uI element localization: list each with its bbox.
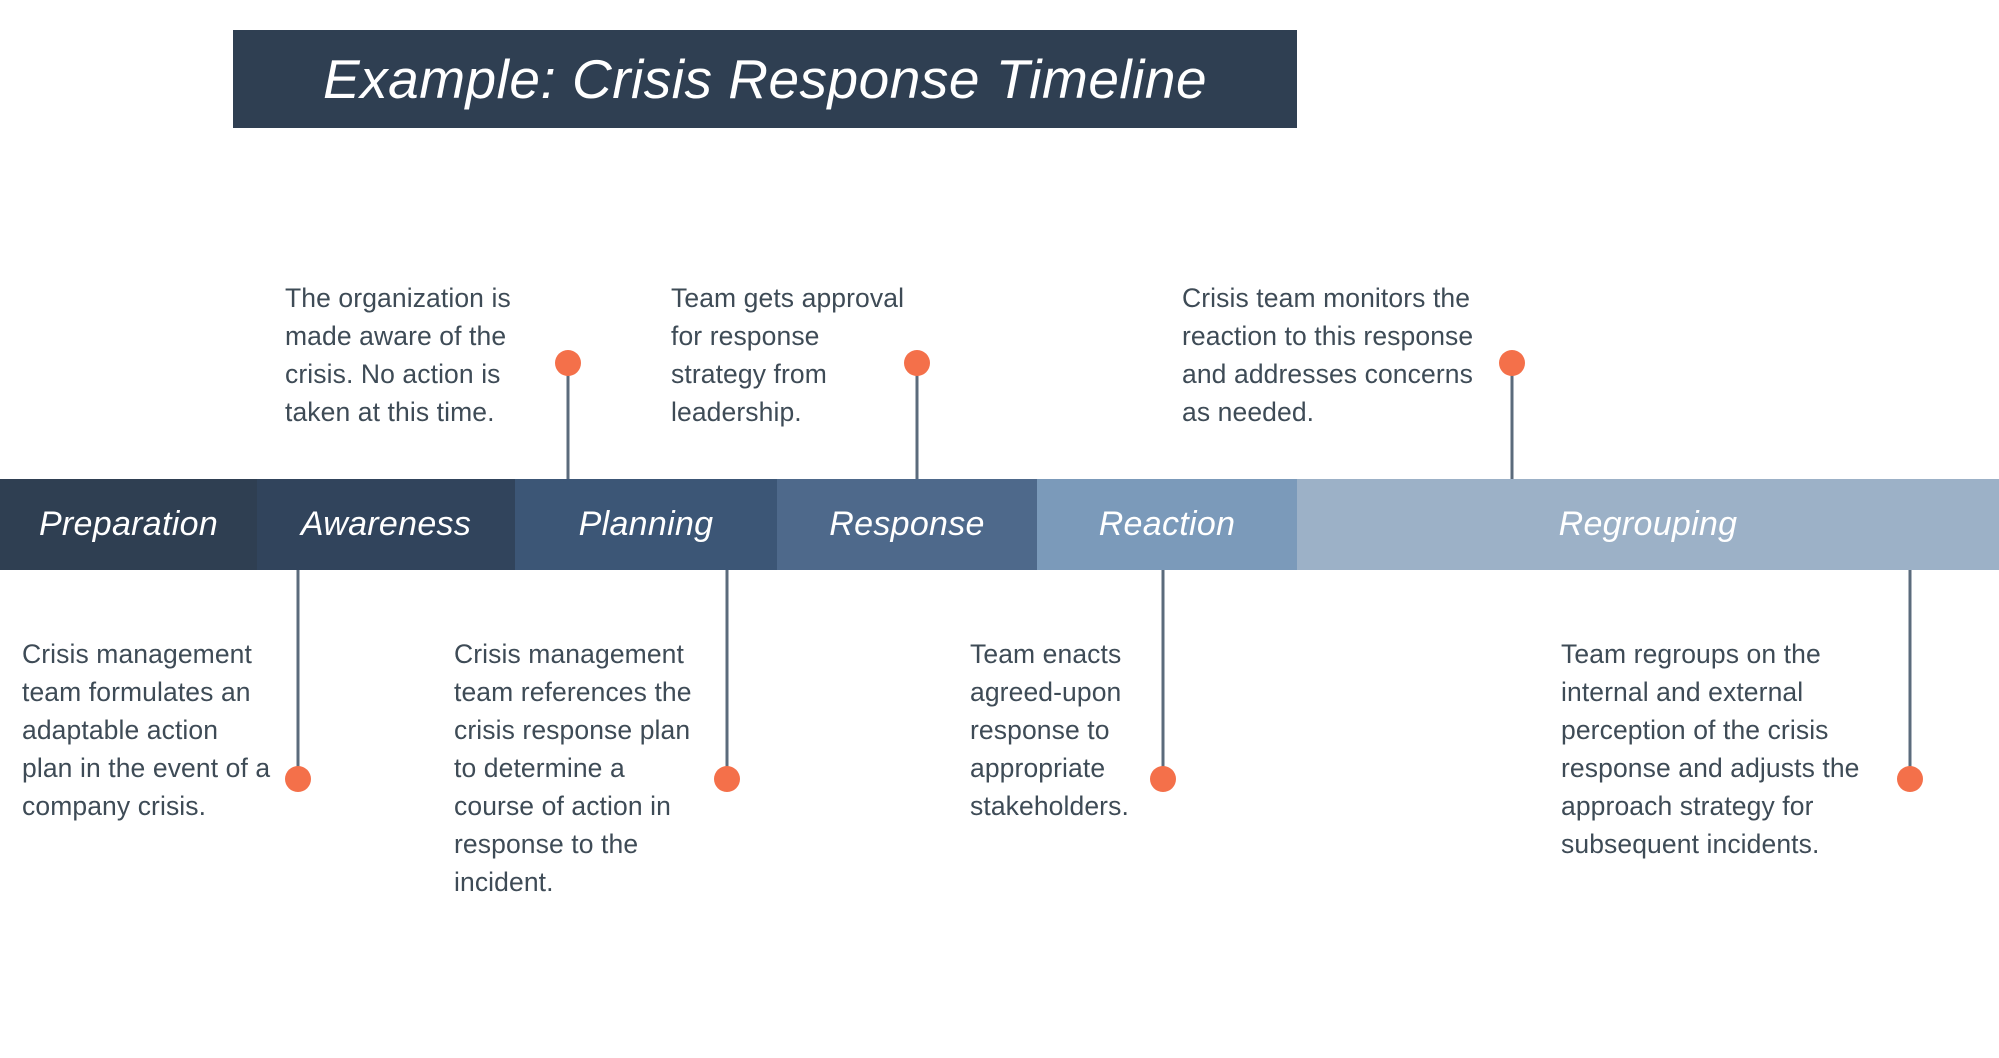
annotation-text-regrouping-bottom: Team regroups on the internal and extern… [1561,635,1881,863]
connector-stem [726,570,729,779]
connector-regrouping-bottom [1897,570,1923,792]
connector-reaction-top [1499,350,1525,479]
annotation-text-awareness-bottom: Crisis management team references the cr… [454,635,704,901]
annotation-text-preparation-bottom: Crisis management team formulates an ada… [22,635,272,825]
timeline-segment-planning[interactable]: Planning [515,479,777,570]
timeline-segment-preparation[interactable]: Preparation [0,479,257,570]
timeline-segment-regrouping[interactable]: Regrouping [1297,479,1999,570]
title-banner: Example: Crisis Response Timeline [233,30,1297,128]
connector-stem [297,570,300,779]
connector-preparation-bottom [285,570,311,792]
annotation-text-response-bottom: Team enacts agreed-upon response to appr… [970,635,1170,825]
connector-awareness-bottom [714,570,740,792]
timeline-segment-label: Reaction [1099,505,1236,544]
page-title: Example: Crisis Response Timeline [323,47,1207,111]
timeline-segment-response[interactable]: Response [777,479,1037,570]
connector-dot[interactable] [714,766,740,792]
connector-stem [1909,570,1912,779]
timeline-segment-awareness[interactable]: Awareness [257,479,515,570]
timeline-segment-label: Planning [579,505,714,544]
connector-dot[interactable] [555,350,581,376]
connector-stem [567,363,570,479]
connector-dot[interactable] [285,766,311,792]
annotation-text-reaction-top: Crisis team monitors the reaction to thi… [1182,279,1492,431]
annotation-text-awareness-top: The organization is made aware of the cr… [285,279,535,431]
timeline-segment-label: Regrouping [1559,505,1738,544]
annotation-text-planning-top: Team gets approval for response strategy… [671,279,911,431]
timeline-bar: PreparationAwarenessPlanningResponseReac… [0,479,1999,570]
timeline-segment-label: Preparation [39,505,218,544]
connector-stem [1511,363,1514,479]
connector-awareness-top [555,350,581,479]
connector-dot[interactable] [1897,766,1923,792]
timeline-segment-label: Response [829,505,985,544]
timeline-segment-reaction[interactable]: Reaction [1037,479,1297,570]
connector-stem [916,363,919,479]
connector-dot[interactable] [1499,350,1525,376]
timeline-segment-label: Awareness [301,505,471,544]
